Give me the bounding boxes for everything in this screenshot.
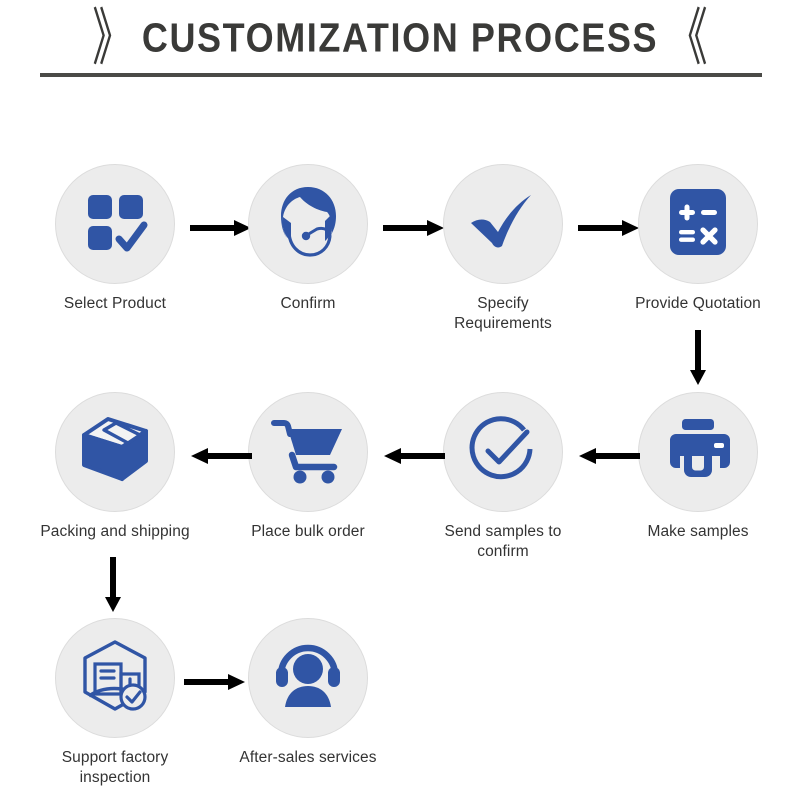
flow-step-provide-quotation[interactable]: Provide Quotation [623, 164, 773, 314]
step-label: Support factory inspection [40, 748, 190, 788]
step-icon-circle [443, 392, 563, 512]
flow-step-place-bulk-order[interactable]: Place bulk order [233, 392, 383, 542]
arrow-packing-to-inspection [104, 557, 122, 613]
step-icon-circle [248, 164, 368, 284]
headset-operator-icon [271, 183, 345, 266]
package-box-icon [78, 415, 152, 490]
arrow-quotation-to-samples [689, 330, 707, 386]
factory-inspection-icon [77, 638, 153, 719]
step-icon-circle [638, 164, 758, 284]
step-icon-circle [248, 618, 368, 738]
calculator-icon [667, 186, 729, 263]
flow-step-confirm[interactable]: Confirm [233, 164, 383, 314]
flow-step-send-samples[interactable]: Send samples to confirm [428, 392, 578, 562]
step-label: Provide Quotation [623, 294, 773, 314]
step-label: Make samples [623, 522, 773, 542]
step-icon-circle [248, 392, 368, 512]
chevron-right-icon: 《 [667, 7, 707, 69]
step-icon-circle [638, 392, 758, 512]
checkmark-icon [467, 186, 539, 263]
step-icon-circle [55, 618, 175, 738]
step-label: Place bulk order [233, 522, 383, 542]
arrow-bulk-to-packing [190, 447, 252, 465]
step-label: Select Product [40, 294, 190, 314]
step-icon-circle [55, 164, 175, 284]
flow-step-make-samples[interactable]: Make samples [623, 392, 773, 542]
title-row: 》 CUSTOMIZATION PROCESS 《 [0, 8, 800, 68]
step-label: Send samples to confirm [428, 522, 578, 562]
shopping-cart-icon [270, 415, 346, 490]
flow-step-after-sales[interactable]: After-sales services [233, 618, 383, 768]
page-title: CUSTOMIZATION PROCESS [142, 14, 658, 61]
support-agent-icon [271, 643, 345, 714]
arrow-samples-to-send [578, 447, 640, 465]
step-label: Packing and shipping [40, 522, 190, 542]
printer-icon [662, 417, 734, 488]
grid-check-icon [82, 189, 148, 260]
step-icon-circle [443, 164, 563, 284]
page-header: 》 CUSTOMIZATION PROCESS 《 [0, 0, 800, 90]
step-label: After-sales services [233, 748, 383, 768]
flow-step-specify-requirements[interactable]: Specify Requirements [428, 164, 578, 334]
header-divider [40, 73, 762, 77]
flow-step-support-inspection[interactable]: Support factory inspection [40, 618, 190, 788]
step-icon-circle [55, 392, 175, 512]
chevron-left-icon: 》 [92, 7, 132, 69]
circle-check-icon [466, 413, 540, 492]
step-label: Confirm [233, 294, 383, 314]
arrow-send-to-bulk [383, 447, 445, 465]
flow-step-select-product[interactable]: Select Product [40, 164, 190, 314]
flow-step-packing-shipping[interactable]: Packing and shipping [40, 392, 190, 542]
step-label: Specify Requirements [428, 294, 578, 334]
